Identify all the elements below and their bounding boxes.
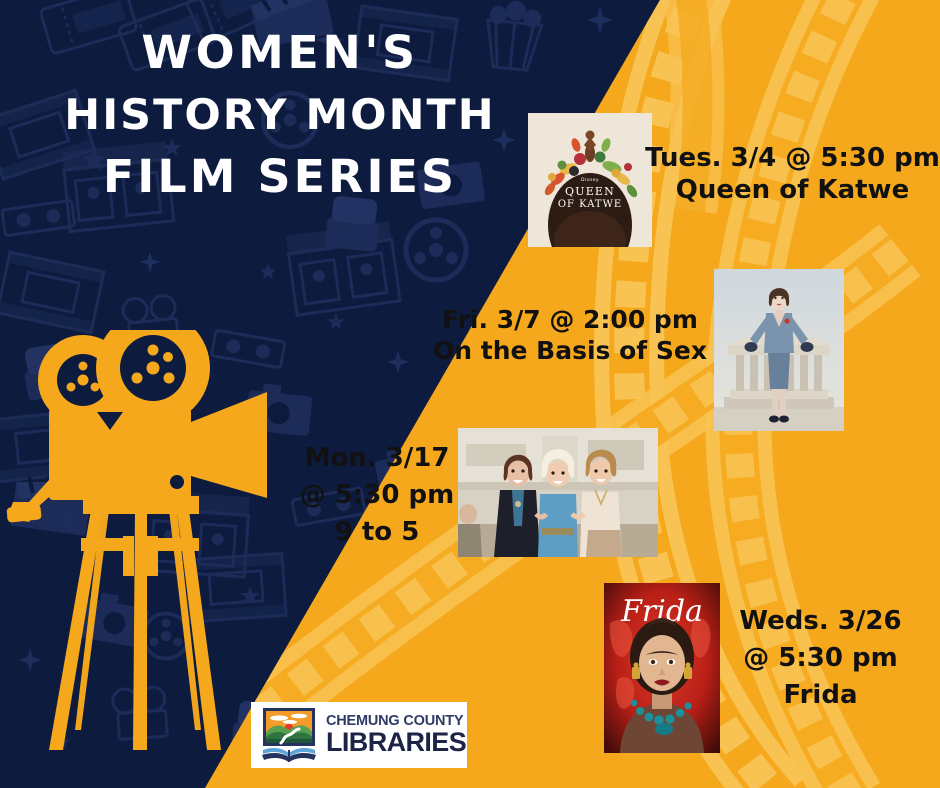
landscape-open-book-icon [259,707,319,763]
film-title: 9 to 5 [288,514,466,551]
logo-line-2: LIBRARIES [326,729,466,756]
film-time: @ 5:30 pm [288,477,466,514]
film-title: Frida [723,677,918,714]
film-datetime: Tues. 3/4 @ 5:30 pm [645,143,940,175]
logo-line-1: CHEMUNG COUNTY [326,714,466,729]
film-title: On the Basis of Sex [420,336,720,367]
film-time: @ 5:30 pm [723,640,918,677]
poster-title: Women's History Month Film Series [0,22,560,208]
poster-on-the-basis-of-sex[interactable] [714,269,844,431]
poster-canvas: Women's History Month Film Series [0,0,940,788]
film-entry-9-to-5: Mon. 3/17 @ 5:30 pm 9 to 5 [288,440,466,551]
title-line-3: Film Series [0,146,566,208]
poster-frida[interactable]: Frida [604,583,720,753]
poster-9-to-5[interactable] [458,428,658,557]
svg-text:Disney: Disney [581,177,599,183]
film-entry-queen-of-katwe: Tues. 3/4 @ 5:30 pm Queen of Katwe [645,143,940,206]
title-line-1: Women's [0,22,566,84]
svg-text:QUEEN: QUEEN [565,185,615,198]
film-entry-frida: Weds. 3/26 @ 5:30 pm Frida [723,603,918,714]
frida-artwork: Frida [604,583,720,753]
9-to-5-artwork [458,428,658,557]
on-the-basis-of-sex-artwork [714,269,844,431]
logo-wordmark: CHEMUNG COUNTY LIBRARIES [326,714,466,757]
film-date: Weds. 3/26 [723,603,918,640]
title-line-2: History Month [0,84,566,146]
film-date: Mon. 3/17 [288,440,466,477]
chemung-county-libraries-logo[interactable]: CHEMUNG COUNTY LIBRARIES [251,702,467,768]
svg-text:OF KATWE: OF KATWE [558,199,622,210]
queen-of-katwe-artwork: Disney QUEEN OF KATWE [528,113,652,247]
poster-queen-of-katwe[interactable]: Disney QUEEN OF KATWE [528,113,652,247]
movie-projector-icon [5,330,275,750]
film-entry-on-the-basis-of-sex: Fri. 3/7 @ 2:00 pm On the Basis of Sex [420,305,720,366]
film-datetime: Fri. 3/7 @ 2:00 pm [420,305,720,336]
film-title: Queen of Katwe [645,175,940,207]
